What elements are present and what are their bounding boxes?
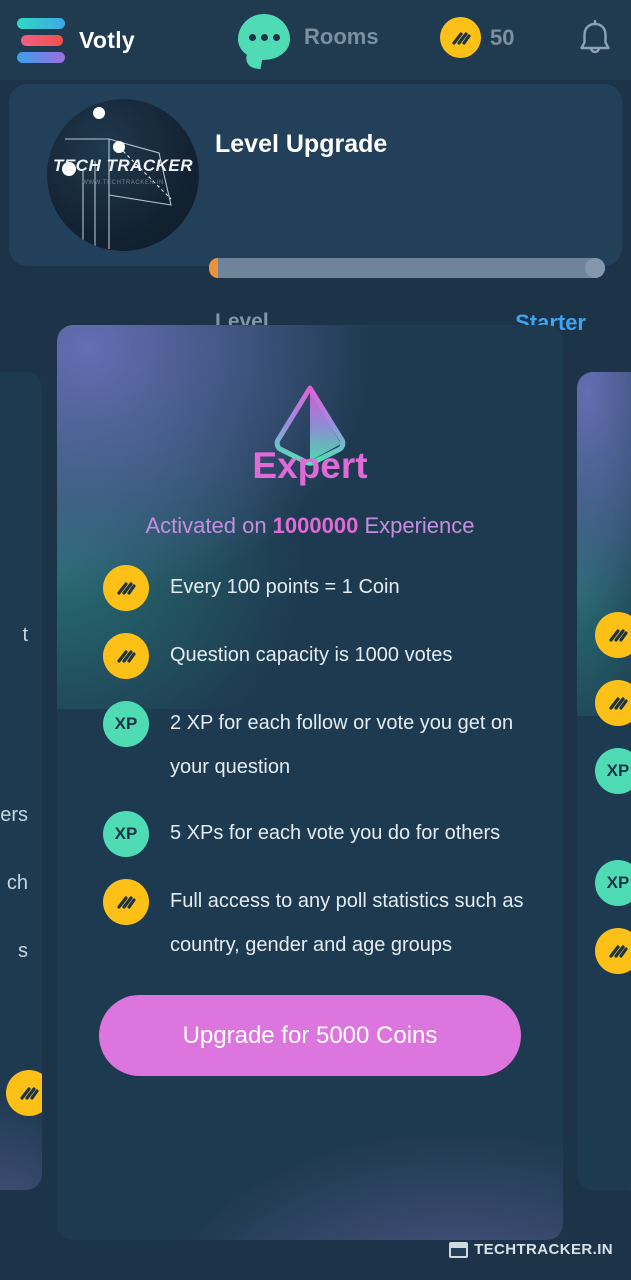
list-item: XP 5 XPs for each vote you do for others [103,811,533,857]
side-card-features: t ers ch s [0,612,42,1138]
list-item [577,680,631,726]
feature-text: Every 100 points = 1 Coin [170,565,400,609]
coin-icon [595,928,631,974]
feature-text: 5 XPs for each vote you do for others [170,811,500,855]
feature-text: Question capacity is 1000 votes [170,633,452,677]
list-item: Full access to any poll statistics such … [103,879,533,967]
coin-icon [103,879,149,925]
level-upgrade-panel: TECH TRACKER WWW.TECHTRACKER.IN Level Up… [9,84,622,266]
brand-name: Votly [79,27,135,54]
watermark-text: TECHTRACKER.IN [474,1241,613,1258]
card-gradient-wave [577,1026,631,1190]
feature-fragment: s [18,940,28,963]
feature-list: Every 100 points = 1 Coin Question capac… [103,565,533,989]
list-item: XP [577,816,631,906]
logo-bar-1 [17,18,65,29]
logo-bar-2 [21,35,63,46]
list-item: ers [0,792,42,838]
feature-text: 2 XP for each follow or vote you get on … [170,701,533,789]
app-header: Votly Rooms 50 [0,0,631,80]
list-item: Question capacity is 1000 votes [103,633,533,679]
xp-icon: XP [103,811,149,857]
upgrade-button[interactable]: Upgrade for 5000 Coins [99,995,521,1076]
logo-bar-3 [17,52,65,63]
bell-icon[interactable] [575,18,615,60]
tier-title: Expert [57,445,563,487]
xp-icon: XP [595,748,631,794]
xp-icon: XP [103,701,149,747]
progress-knob[interactable] [585,258,605,278]
coin-icon [595,680,631,726]
list-item [0,996,42,1048]
votly-bars-logo-icon [17,18,65,63]
xp-label: XP [607,873,630,893]
xp-label: XP [607,761,630,781]
avatar-subtitle: WWW.TECHTRACKER.IN [47,180,199,186]
rooms-label: Rooms [304,24,379,50]
dot-1 [249,34,256,41]
feature-fragment: ch [7,872,28,895]
xp-label: XP [115,824,138,844]
xp-label: XP [115,714,138,734]
page-title: Level Upgrade [215,130,387,159]
coin-icon [6,1070,42,1116]
list-item: Every 100 points = 1 Coin [103,565,533,611]
list-item: XP [577,748,631,794]
activated-prefix: Activated on [145,513,272,538]
app-root: Votly Rooms 50 [0,0,631,1280]
coin-icon [103,633,149,679]
dot-2 [261,34,268,41]
side-card-features: XP XP [577,612,631,996]
card-gradient-wave [57,1057,563,1240]
list-item [0,680,42,770]
xp-icon: XP [595,860,631,906]
progress-fill [209,258,218,278]
browser-window-icon [449,1242,468,1258]
coin-icon [103,565,149,611]
list-item: t [0,612,42,658]
feature-text: Full access to any poll statistics such … [170,879,533,967]
activated-suffix: Experience [358,513,474,538]
tier-activation-text: Activated on 1000000 Experience [57,513,563,539]
list-item: XP 2 XP for each follow or vote you get … [103,701,533,789]
nav-rooms[interactable]: Rooms [238,14,379,60]
chat-bubble-icon [238,14,290,60]
list-item: s [0,928,42,974]
list-item [577,928,631,974]
coin-count: 50 [490,25,514,51]
carousel-card-previous[interactable]: t ers ch s [0,372,42,1190]
coin-balance[interactable]: 50 [440,17,514,58]
watermark: TECHTRACKER.IN [449,1241,613,1258]
coin-icon [595,612,631,658]
coin-icon [440,17,481,58]
activated-value: 1000000 [273,513,359,538]
tier-card-expert[interactable]: Expert Activated on 1000000 Experience E… [57,325,563,1240]
avatar-title: TECH TRACKER [47,156,199,176]
level-progress-bar[interactable] [209,258,605,278]
brand[interactable]: Votly [17,18,177,63]
feature-fragment: t [22,624,28,647]
dot-3 [273,34,280,41]
list-item [0,1070,42,1116]
carousel-card-next[interactable]: XP XP [577,372,631,1190]
list-item [577,612,631,658]
user-avatar[interactable]: TECH TRACKER WWW.TECHTRACKER.IN [47,99,199,251]
feature-fragment: ers [0,804,28,827]
list-item: ch [0,860,42,906]
